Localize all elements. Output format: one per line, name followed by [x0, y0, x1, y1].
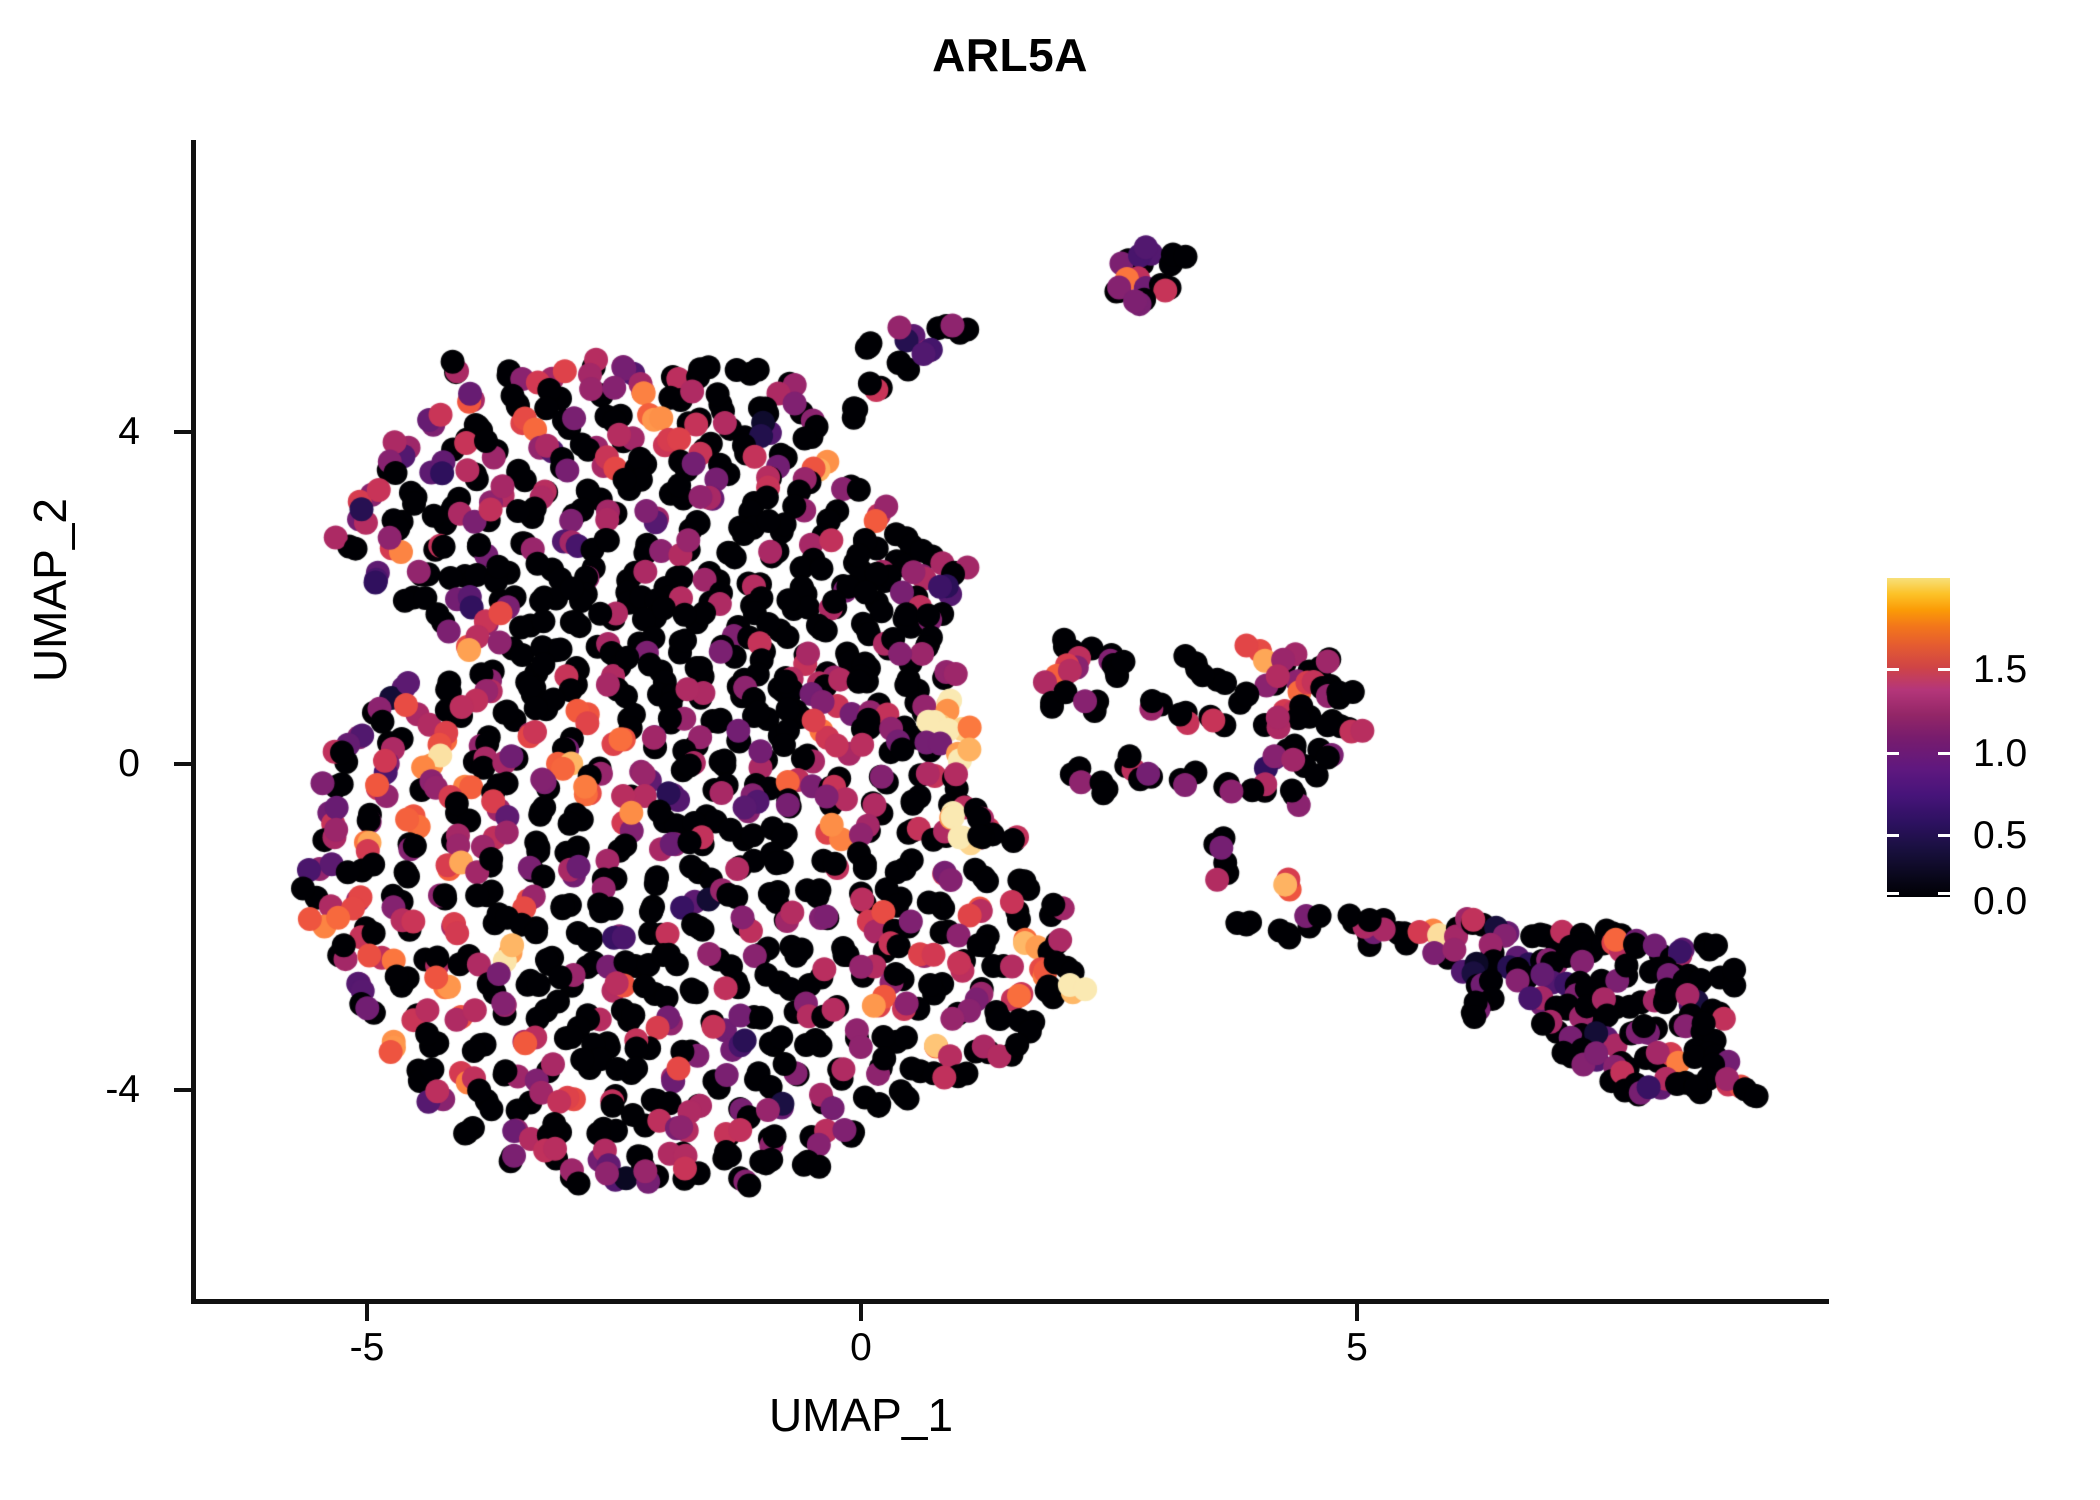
colorbar-tick-0_5-left	[1887, 834, 1899, 837]
colorbar-tick-0_0-right	[1938, 892, 1950, 895]
scatter-plot-area	[0, 0, 2100, 1500]
colorbar-legend: 1.5 1.0 0.5 0.0	[1887, 578, 2087, 908]
colorbar-tick-0_0-left	[1887, 892, 1899, 895]
colorbar-tick-1_5-right	[1938, 668, 1950, 671]
colorbar-label-0_0: 0.0	[1973, 882, 2027, 921]
colorbar-label-1_5: 1.5	[1973, 650, 2027, 689]
colorbar-tick-1_0-left	[1887, 752, 1899, 755]
colorbar-tick-1_0-right	[1938, 752, 1950, 755]
colorbar-tick-0_5-right	[1938, 834, 1950, 837]
colorbar-label-1_0: 1.0	[1973, 734, 2027, 773]
colorbar-gradient	[1887, 578, 1950, 897]
colorbar-tick-1_5-left	[1887, 668, 1899, 671]
colorbar-label-0_5: 0.5	[1973, 816, 2027, 855]
umap-feature-plot: ARL5A 4 0 -4 -5 0 5 UMAP_2 UMAP_1 1.5 1.…	[0, 0, 2100, 1500]
